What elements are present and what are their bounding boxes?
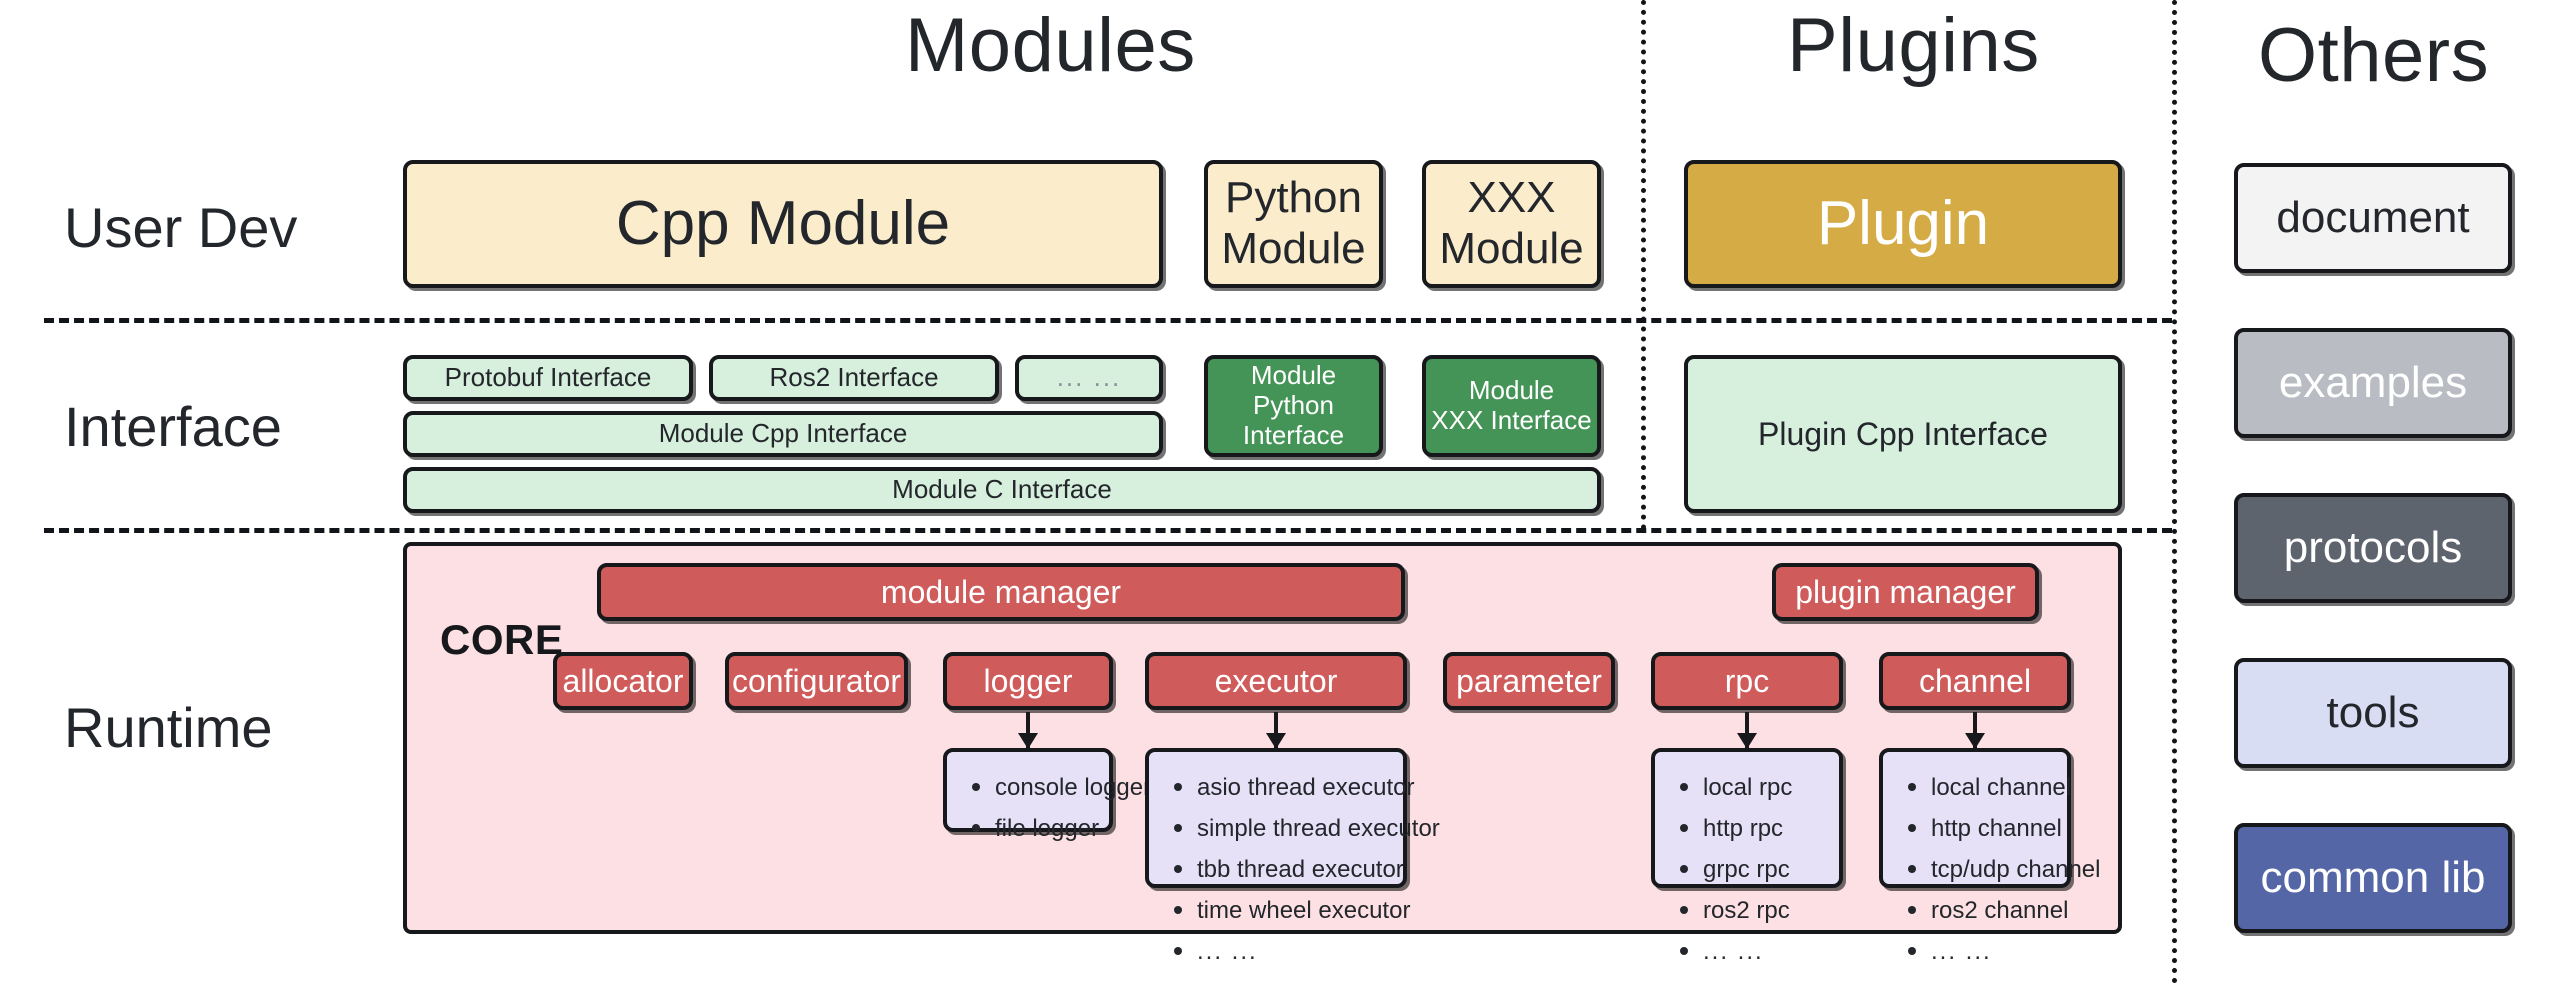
module-c-interface-label: Module C Interface [892, 475, 1112, 505]
cpp-module-box[interactable]: Cpp Module [403, 160, 1163, 288]
module-python-interface-box[interactable]: Module Python Interface [1204, 355, 1383, 457]
list-item: tcp/udp channel [1931, 848, 2057, 889]
ros2-interface-box[interactable]: Ros2 Interface [709, 355, 999, 401]
module-cpp-interface-label: Module Cpp Interface [659, 419, 908, 449]
channel-label: channel [1919, 663, 2031, 700]
column-header-others: Others [2258, 18, 2489, 94]
core-label: CORE [440, 616, 563, 664]
others-item-label: common lib [2261, 853, 2486, 904]
protobuf-interface-label: Protobuf Interface [445, 363, 652, 393]
row-label-runtime: Runtime [64, 700, 273, 756]
others-item-label: examples [2279, 358, 2467, 409]
module-python-interface-label-line2: Python Interface [1208, 391, 1379, 451]
more-interface-box[interactable]: ... ... [1015, 355, 1163, 401]
list-item: http channel [1931, 807, 2057, 848]
xxx-module-label-line2: Module [1439, 224, 1583, 275]
plugin-cpp-interface-label: Plugin Cpp Interface [1758, 416, 2048, 453]
list-item: tbb thread executor [1197, 848, 1393, 889]
python-module-label-line1: Python [1225, 173, 1362, 224]
channel-arrow [1963, 712, 1987, 748]
logger-arrow [1016, 712, 1040, 748]
module-cpp-interface-box[interactable]: Module Cpp Interface [403, 411, 1163, 457]
others-item-document[interactable]: document [2234, 163, 2512, 273]
channel-detail-items: local channel http channel tcp/udp chann… [1905, 766, 2057, 971]
list-item: ... ... [1197, 930, 1393, 971]
others-item-label: document [2276, 193, 2469, 244]
module-python-interface-label-line1: Module [1251, 361, 1336, 391]
divider-modules-plugins [1641, 0, 1646, 530]
others-item-common-lib[interactable]: common lib [2234, 823, 2512, 933]
channel-box[interactable]: channel [1879, 652, 2071, 710]
others-item-examples[interactable]: examples [2234, 328, 2512, 438]
executor-arrow [1264, 712, 1288, 748]
list-item: time wheel executor [1197, 889, 1393, 930]
rpc-arrow [1735, 712, 1759, 748]
protobuf-interface-box[interactable]: Protobuf Interface [403, 355, 693, 401]
module-xxx-interface-label-line1: Module [1469, 376, 1554, 406]
module-c-interface-box[interactable]: Module C Interface [403, 467, 1601, 513]
logger-detail-list: console logger file logger [943, 748, 1113, 832]
list-item: grpc rpc [1703, 848, 1829, 889]
module-manager-label: module manager [881, 574, 1121, 611]
others-item-label: protocols [2284, 523, 2463, 574]
list-item: http rpc [1703, 807, 1829, 848]
others-item-protocols[interactable]: protocols [2234, 493, 2512, 603]
list-item: file logger [995, 807, 1099, 848]
parameter-box[interactable]: parameter [1443, 652, 1615, 710]
allocator-label: allocator [563, 663, 684, 700]
plugin-manager-box[interactable]: plugin manager [1772, 563, 2039, 621]
divider-user-dev-interface [44, 318, 2172, 323]
module-xxx-interface-label-line2: XXX Interface [1431, 406, 1591, 436]
allocator-box[interactable]: allocator [553, 652, 693, 710]
list-item: ... ... [1931, 930, 2057, 971]
rpc-label: rpc [1725, 663, 1769, 700]
python-module-label-line2: Module [1221, 224, 1365, 275]
divider-plugins-others [2172, 0, 2177, 984]
more-interface-label: ... ... [1057, 363, 1122, 393]
xxx-module-box[interactable]: XXX Module [1422, 160, 1601, 288]
ros2-interface-label: Ros2 Interface [769, 363, 938, 393]
xxx-module-label-line1: XXX [1467, 173, 1555, 224]
python-module-box[interactable]: Python Module [1204, 160, 1383, 288]
parameter-label: parameter [1456, 663, 1602, 700]
rpc-detail-items: local rpc http rpc grpc rpc ros2 rpc ...… [1677, 766, 1829, 971]
column-header-plugins: Plugins [1787, 8, 2040, 84]
list-item: ros2 rpc [1703, 889, 1829, 930]
module-xxx-interface-box[interactable]: Module XXX Interface [1422, 355, 1601, 457]
row-label-interface: Interface [64, 399, 282, 455]
architecture-diagram: Modules Plugins Others User Dev Interfac… [0, 0, 2560, 984]
list-item: ros2 channel [1931, 889, 2057, 930]
rpc-box[interactable]: rpc [1651, 652, 1843, 710]
plugin-label: Plugin [1817, 188, 1989, 259]
divider-interface-runtime [44, 528, 2172, 533]
logger-box[interactable]: logger [943, 652, 1113, 710]
logger-detail-items: console logger file logger [969, 766, 1099, 848]
column-header-modules: Modules [905, 8, 1196, 84]
executor-label: executor [1215, 663, 1338, 700]
row-label-user-dev: User Dev [64, 200, 297, 256]
cpp-module-label: Cpp Module [616, 188, 950, 259]
executor-detail-list: asio thread executor simple thread execu… [1145, 748, 1407, 888]
rpc-detail-list: local rpc http rpc grpc rpc ros2 rpc ...… [1651, 748, 1843, 888]
logger-label: logger [984, 663, 1073, 700]
plugin-box[interactable]: Plugin [1684, 160, 2122, 288]
configurator-label: configurator [732, 663, 901, 700]
others-item-tools[interactable]: tools [2234, 658, 2512, 768]
channel-detail-list: local channel http channel tcp/udp chann… [1879, 748, 2071, 888]
list-item: local channel [1931, 766, 2057, 807]
module-manager-box[interactable]: module manager [597, 563, 1405, 621]
list-item: console logger [995, 766, 1099, 807]
executor-detail-items: asio thread executor simple thread execu… [1171, 766, 1393, 971]
list-item: simple thread executor [1197, 807, 1393, 848]
list-item: ... ... [1703, 930, 1829, 971]
list-item: asio thread executor [1197, 766, 1393, 807]
executor-box[interactable]: executor [1145, 652, 1407, 710]
plugin-manager-label: plugin manager [1795, 574, 2016, 611]
configurator-box[interactable]: configurator [725, 652, 908, 710]
list-item: local rpc [1703, 766, 1829, 807]
plugin-cpp-interface-box[interactable]: Plugin Cpp Interface [1684, 355, 2122, 513]
others-item-label: tools [2327, 688, 2420, 739]
